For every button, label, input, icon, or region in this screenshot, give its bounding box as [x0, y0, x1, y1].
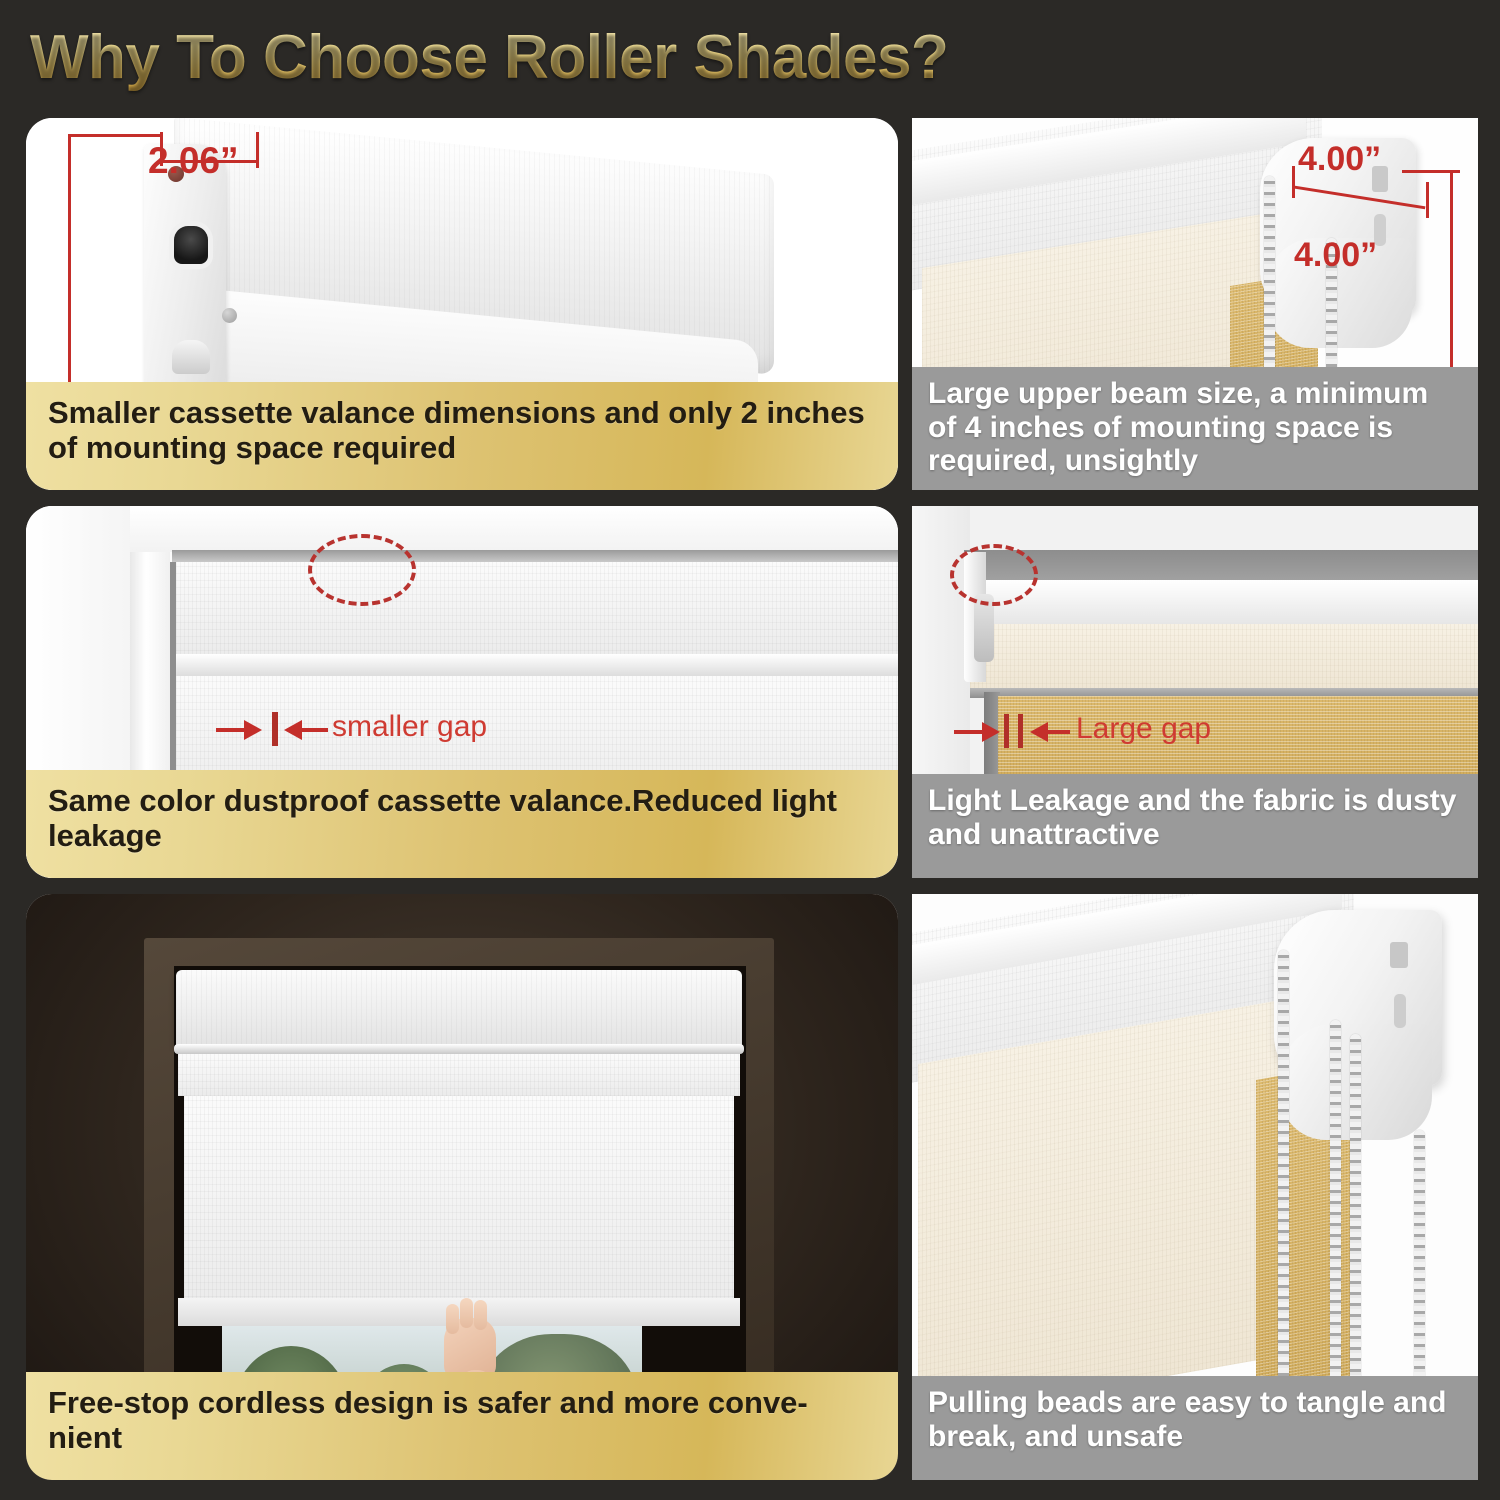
- bead-chain-4: [1414, 1130, 1425, 1384]
- caption-top-left: Smaller cassette valance dimensions and …: [26, 382, 898, 490]
- panel-top-left: 2.06” 5.49” Smaller cassette valance dim…: [26, 118, 898, 490]
- caption-middle-left: Same color dustproof cassette valance.Re…: [26, 770, 898, 878]
- panel-bottom-left: Free-stop cordless design is safer and m…: [26, 894, 898, 1480]
- smaller-gap-label: smaller gap: [332, 710, 487, 744]
- panel-middle-left: smaller gap Same color dustproof cassett…: [26, 506, 898, 878]
- beam-width-tick-right: [1426, 182, 1429, 218]
- gap-arrow-left-icon: [1030, 722, 1048, 742]
- gap-arrow-right-icon: [982, 722, 1000, 742]
- highlight-ellipse-icon: [308, 534, 416, 606]
- beam-width-tick-left: [1292, 166, 1295, 198]
- finger-3: [474, 1300, 487, 1330]
- panel-bottom-right: Pulling beads are easy to tangle and bre…: [912, 894, 1478, 1480]
- shade-fabric-cream: [970, 624, 1478, 690]
- page-title: Why To Choose Roller Shades?: [30, 18, 1230, 96]
- beam-height-dim-line: [1450, 170, 1453, 400]
- large-gap-label: Large gap: [1076, 712, 1211, 746]
- beam-width-label: 4.00”: [1298, 140, 1381, 179]
- caption-top-right: Large upper beam size, a minimum of 4 in…: [912, 367, 1478, 490]
- mounting-pin: [172, 340, 210, 374]
- caption-bottom-right: Pulling beads are easy to tangle and bre…: [912, 1376, 1478, 1480]
- bracket-slot-lower: [1394, 994, 1406, 1028]
- panel-top-right: 4.00” 4.00” Large upper beam size, a min…: [912, 118, 1478, 490]
- beam-height-tick-top: [1402, 170, 1460, 173]
- caption-middle-right: Light Leakage and the fabric is dusty an…: [912, 774, 1478, 878]
- gap-arrow-shaft-right: [302, 728, 328, 732]
- valance-rail: [172, 550, 898, 562]
- gap-arrow-shaft-left: [954, 730, 984, 734]
- comparison-grid: 2.06” 5.49” Smaller cassette valance dim…: [26, 118, 1478, 1480]
- height-dim-tick-top: [68, 134, 160, 137]
- width-dim-tick-right: [256, 132, 259, 168]
- shade-fabric-cream: [918, 996, 1306, 1420]
- gap-arrow-left-icon: [284, 720, 302, 740]
- valance-body: [964, 580, 1478, 628]
- gap-marker-bar: [272, 712, 278, 746]
- screw-mid-icon: [222, 308, 237, 323]
- beam-height-label: 4.00”: [1294, 236, 1377, 275]
- valance-divider-bar: [172, 654, 898, 676]
- width-dimension-label: 2.06”: [148, 140, 239, 182]
- gap-arrow-shaft-right: [1048, 730, 1070, 734]
- bead-chain-3: [1350, 1034, 1361, 1384]
- shade-fabric-upper: [172, 562, 898, 658]
- bracket-hole: [174, 226, 208, 264]
- shade-fabric-main: [184, 1096, 734, 1304]
- valance-lip: [174, 1044, 744, 1054]
- gap-arrow-right-icon: [244, 720, 262, 740]
- finger-1: [446, 1304, 459, 1334]
- panel-middle-right: Large gap Light Leakage and the fabric i…: [912, 506, 1478, 878]
- finger-2: [460, 1298, 473, 1328]
- shade-fabric-top: [178, 1054, 740, 1096]
- gap-marker-bar-1: [1004, 714, 1009, 748]
- bead-chain-2: [1330, 1020, 1341, 1384]
- height-dim-line: [68, 134, 71, 424]
- gap-arrow-shaft-left: [216, 728, 246, 732]
- gap-marker-bar-2: [1018, 714, 1023, 748]
- page-title-text: Why To Choose Roller Shades?: [30, 22, 948, 93]
- highlight-ellipse-icon: [950, 544, 1038, 606]
- bracket-slot-upper: [1390, 942, 1408, 968]
- caption-bottom-left: Free-stop cordless design is safer and m…: [26, 1372, 898, 1480]
- bead-chain-1: [1278, 950, 1289, 1384]
- cassette-valance: [176, 970, 742, 1046]
- window-header: [130, 506, 898, 552]
